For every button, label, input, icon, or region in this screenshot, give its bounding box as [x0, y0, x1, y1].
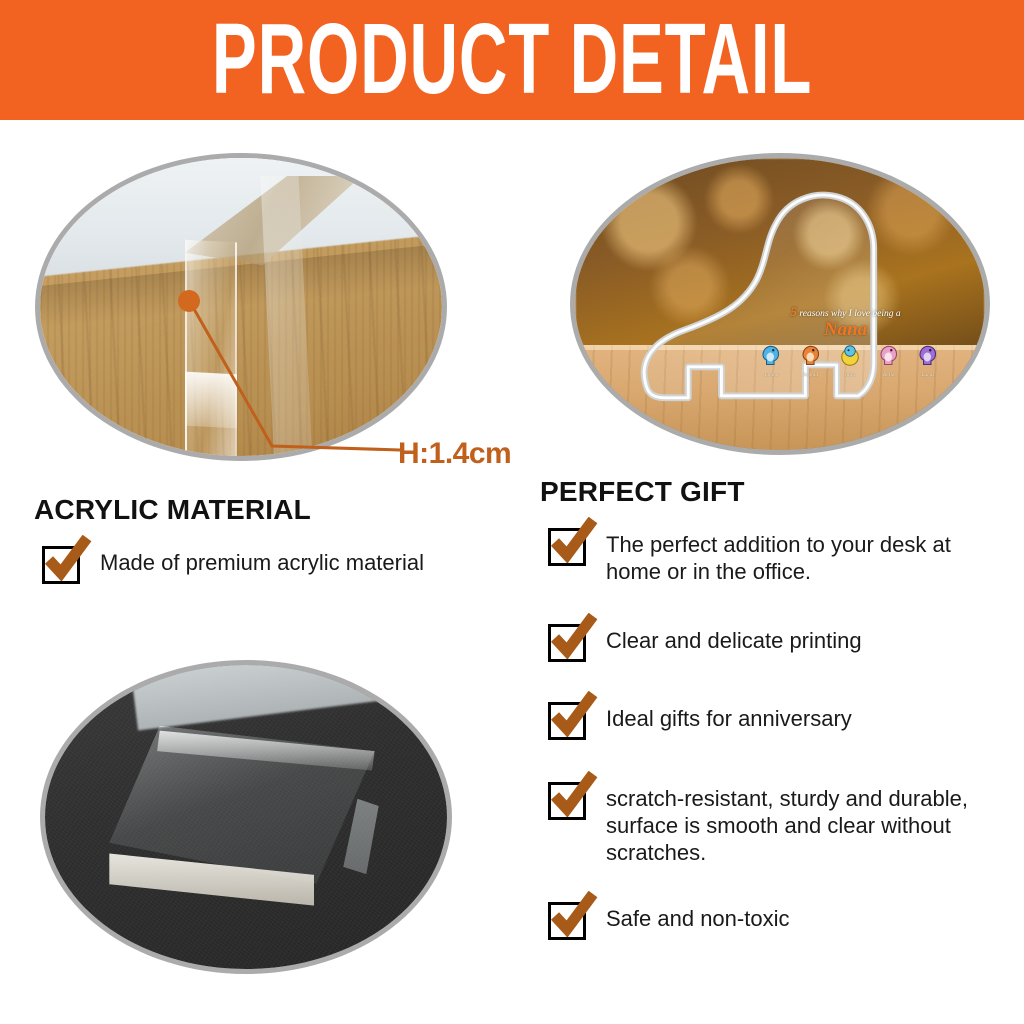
- dinosaur-figure: Bella: [873, 342, 905, 378]
- checkmark-icon: [42, 535, 92, 581]
- section-heading-perfect-gift: PERFECT GIFT: [540, 476, 745, 508]
- checkbox-icon: [548, 528, 586, 566]
- dinosaur-name: Sophia: [795, 372, 827, 378]
- callout-dot-icon: [178, 290, 200, 312]
- bullet-text: Made of premium acrylic material: [100, 546, 424, 577]
- dinosaur-name: Emma: [755, 372, 787, 378]
- checkbox-icon: [548, 624, 586, 662]
- dinosaur-icon: [873, 342, 905, 366]
- dinosaur-figure: Julia: [834, 342, 866, 378]
- checkbox-icon: [42, 546, 80, 584]
- slate-edge-highlight: [130, 660, 409, 730]
- dinosaur-icon: [912, 342, 944, 366]
- header-banner: PRODUCT DETAIL: [0, 0, 1024, 120]
- photo-acrylic-edge: [35, 153, 447, 461]
- dinosaur-icon: [755, 342, 787, 366]
- checkmark-icon: [548, 771, 598, 817]
- bullet-text: Clear and delicate printing: [606, 624, 862, 655]
- checkmark-icon: [548, 891, 598, 937]
- checkmark-icon: [548, 517, 598, 563]
- wood-table-scene: [40, 158, 442, 456]
- checkbox-icon: [548, 702, 586, 740]
- dinosaur-name: Bella: [873, 372, 905, 378]
- dinosaur-figure: Sophia: [795, 342, 827, 378]
- dinosaur-figure: Emma: [755, 342, 787, 378]
- bullet-text: scratch-resistant, sturdy and durable, s…: [606, 782, 1008, 866]
- photo-acrylic-block: [40, 660, 452, 974]
- photo-dinosaur-plaque: 5 reasons why I love being a Nana Emma S…: [570, 153, 990, 455]
- dinosaur-name: Lucas: [912, 372, 944, 378]
- dinosaur-icon: [834, 342, 866, 366]
- page-title: PRODUCT DETAIL: [212, 10, 812, 110]
- dimension-label: H:1.4cm: [398, 437, 511, 471]
- checkbox-icon: [548, 782, 586, 820]
- plaque-dinosaur-row: Emma Sophia Julia Bella: [755, 342, 944, 378]
- bullet-text: Safe and non-toxic: [606, 902, 789, 933]
- bullet-item: Ideal gifts for anniversary: [548, 702, 998, 740]
- bullet-text: The perfect addition to your desk at hom…: [606, 528, 998, 586]
- checkbox-icon: [548, 902, 586, 940]
- acrylic-slab-highlight: [185, 371, 237, 427]
- bullet-item: Safe and non-toxic: [548, 902, 998, 940]
- dinosaur-figure: Lucas: [912, 342, 944, 378]
- bullet-item: Clear and delicate printing: [548, 624, 998, 662]
- dinosaur-plaque-shape: [575, 158, 985, 450]
- bullet-item: Made of premium acrylic material: [42, 546, 512, 584]
- dinosaur-name: Julia: [834, 372, 866, 378]
- bullet-item: The perfect addition to your desk at hom…: [548, 528, 998, 586]
- checkmark-icon: [548, 613, 598, 659]
- bullet-text: Ideal gifts for anniversary: [606, 702, 852, 733]
- checkmark-icon: [548, 691, 598, 737]
- bullet-item: scratch-resistant, sturdy and durable, s…: [548, 782, 1008, 866]
- section-heading-acrylic-material: ACRYLIC MATERIAL: [34, 494, 311, 526]
- slate-background: [45, 665, 447, 969]
- dinosaur-icon: [795, 342, 827, 366]
